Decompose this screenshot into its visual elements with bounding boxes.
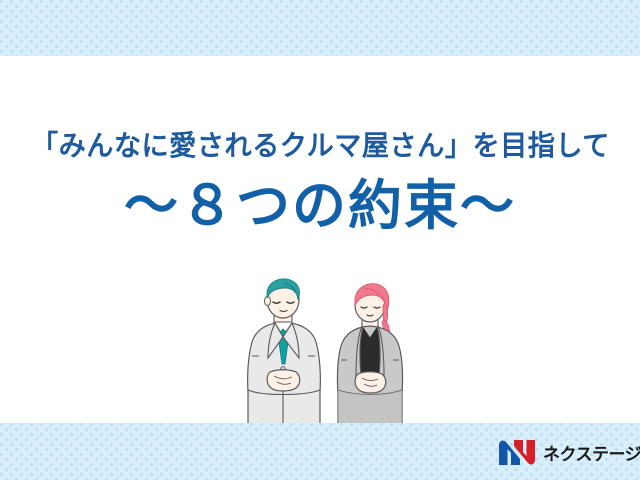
headline-line-1-container: 「みんなに愛されるクルマ屋さん」を目指して: [0, 124, 640, 164]
top-dotted-band: [0, 0, 640, 56]
male-staff-bowing: [248, 279, 321, 424]
headline-line-2-container: ～８つの約束～: [0, 178, 640, 235]
nextage-logo-text: ネクステージ: [543, 440, 640, 465]
slide-canvas: 「みんなに愛されるクルマ屋さん」を目指して ～８つの約束～: [0, 0, 640, 480]
female-staff-bowing: [337, 284, 402, 424]
two-staff-bowing-illustration: [232, 272, 424, 424]
headline-line-2: ～８つの約束～: [124, 178, 516, 235]
nextage-logo: ネクステージ: [498, 435, 628, 469]
nextage-n-mark-icon: [498, 439, 536, 466]
headline-line-1: 「みんなに愛されるクルマ屋さん」を目指して: [31, 124, 610, 164]
